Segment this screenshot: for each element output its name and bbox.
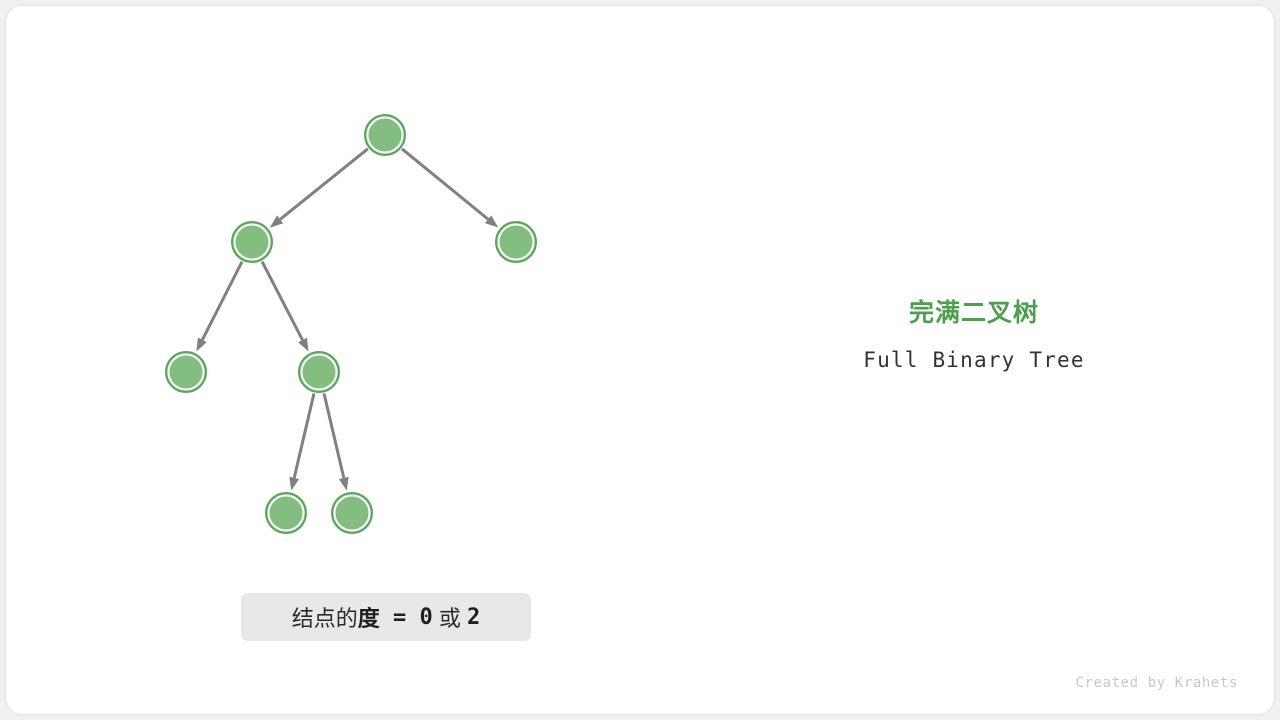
tree-edge <box>202 262 242 340</box>
tree-node-n-lrl[interactable] <box>266 493 306 533</box>
tree-node-circle <box>166 352 206 392</box>
caption-badge: 结点的度 = 0 或 2 <box>241 593 531 641</box>
tree-edge <box>280 149 368 220</box>
diagram-card: 完满二叉树 Full Binary Tree 结点的度 = 0 或 2 Crea… <box>6 6 1274 714</box>
tree-node-circle <box>332 493 372 533</box>
tree-edge-arrowhead <box>196 338 206 352</box>
tree-edge-arrowhead <box>289 477 299 491</box>
tree-edge-arrowhead <box>339 477 349 491</box>
tree-node-circle <box>496 222 536 262</box>
tree-node-circle <box>266 493 306 533</box>
caption-or: 或 <box>433 601 467 633</box>
tree-node-root[interactable] <box>365 115 405 155</box>
page-title-en: Full Binary Tree <box>774 348 1174 372</box>
tree-edge-arrowhead <box>298 338 308 352</box>
tree-nodes <box>166 115 536 533</box>
tree-node-circle <box>365 115 405 155</box>
tree-label-block: 完满二叉树 Full Binary Tree <box>774 298 1174 372</box>
caption-equals: = <box>380 605 420 630</box>
tree-node-n-l[interactable] <box>232 222 272 262</box>
tree-edge <box>262 262 302 340</box>
screenshot-stage: 完满二叉树 Full Binary Tree 结点的度 = 0 或 2 Crea… <box>0 0 1280 720</box>
tree-node-n-r[interactable] <box>496 222 536 262</box>
tree-edges <box>196 149 498 491</box>
tree-node-n-lr[interactable] <box>299 352 339 392</box>
tree-node-n-ll[interactable] <box>166 352 206 392</box>
page-title-cn: 完满二叉树 <box>774 298 1174 328</box>
tree-node-n-lrr[interactable] <box>332 493 372 533</box>
tree-edge <box>324 393 344 478</box>
caption-value-zero: 0 <box>420 605 433 630</box>
caption-degree-keyword: 度 <box>358 601 380 633</box>
tree-edge <box>294 393 314 478</box>
footer-credit: Created by Krahets <box>1075 675 1238 691</box>
caption-part-1: 结点的 <box>292 601 358 633</box>
caption-value-two: 2 <box>467 605 480 630</box>
tree-node-circle <box>299 352 339 392</box>
tree-edge <box>402 149 488 219</box>
tree-node-circle <box>232 222 272 262</box>
